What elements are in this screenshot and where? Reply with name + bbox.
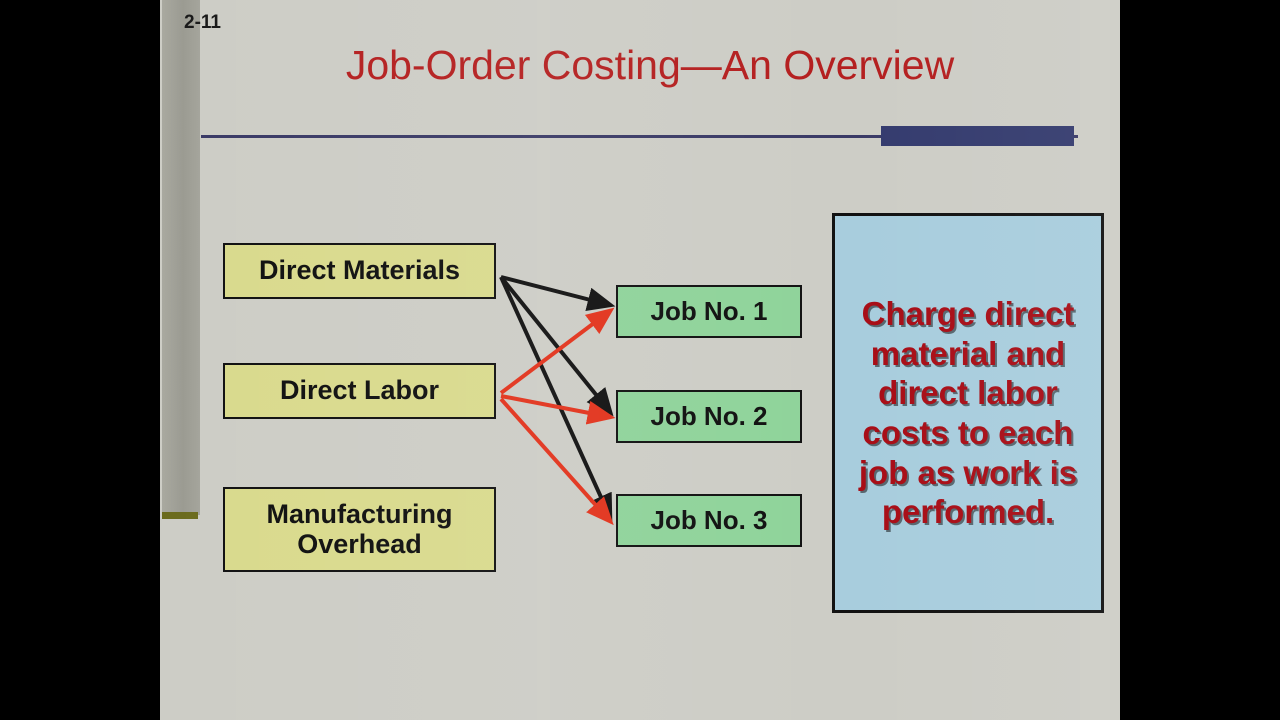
cost-box-direct-materials[interactable]: Direct Materials [223,243,496,299]
callout-panel: Charge direct material and direct labor … [832,213,1104,613]
arrow-direct-materials-to-job-3 [501,277,610,517]
cost-box-manufacturing-overhead[interactable]: Manufacturing Overhead [223,487,496,572]
left-band-foot-accent [162,512,198,519]
job-box-1-label: Job No. 1 [650,297,767,325]
mfg-overhead-line-1: Manufacturing [267,499,453,529]
mfg-overhead-line-2: Overhead [297,529,422,559]
arrow-direct-materials-to-job-2 [501,277,610,412]
cost-box-direct-labor[interactable]: Direct Labor [223,363,496,419]
arrow-direct-labor-to-job-3 [501,399,610,521]
job-box-3[interactable]: Job No. 3 [616,494,802,547]
job-box-3-label: Job No. 3 [650,506,767,534]
cost-box-manufacturing-overhead-label: Manufacturing Overhead [267,500,453,558]
left-decorative-band [162,0,200,515]
job-box-2[interactable]: Job No. 2 [616,390,802,443]
callout-text: Charge direct material and direct labor … [845,294,1091,532]
header-accent-block [881,126,1074,146]
job-box-1[interactable]: Job No. 1 [616,285,802,338]
page-number: 2-11 [184,12,221,34]
job-box-2-label: Job No. 2 [650,402,767,430]
letterbox-viewport: 2-11 Job-Order Costing—An Overview [0,0,1280,720]
arrow-direct-materials-to-job-1 [501,277,610,305]
presentation-slide: 2-11 Job-Order Costing—An Overview [160,0,1120,720]
arrow-direct-labor-to-job-2 [501,396,610,417]
cost-box-direct-labor-label: Direct Labor [280,376,439,405]
cost-box-direct-materials-label: Direct Materials [259,256,460,285]
page-title: Job-Order Costing—An Overview [200,42,1100,89]
arrow-direct-labor-to-job-1 [501,311,610,393]
